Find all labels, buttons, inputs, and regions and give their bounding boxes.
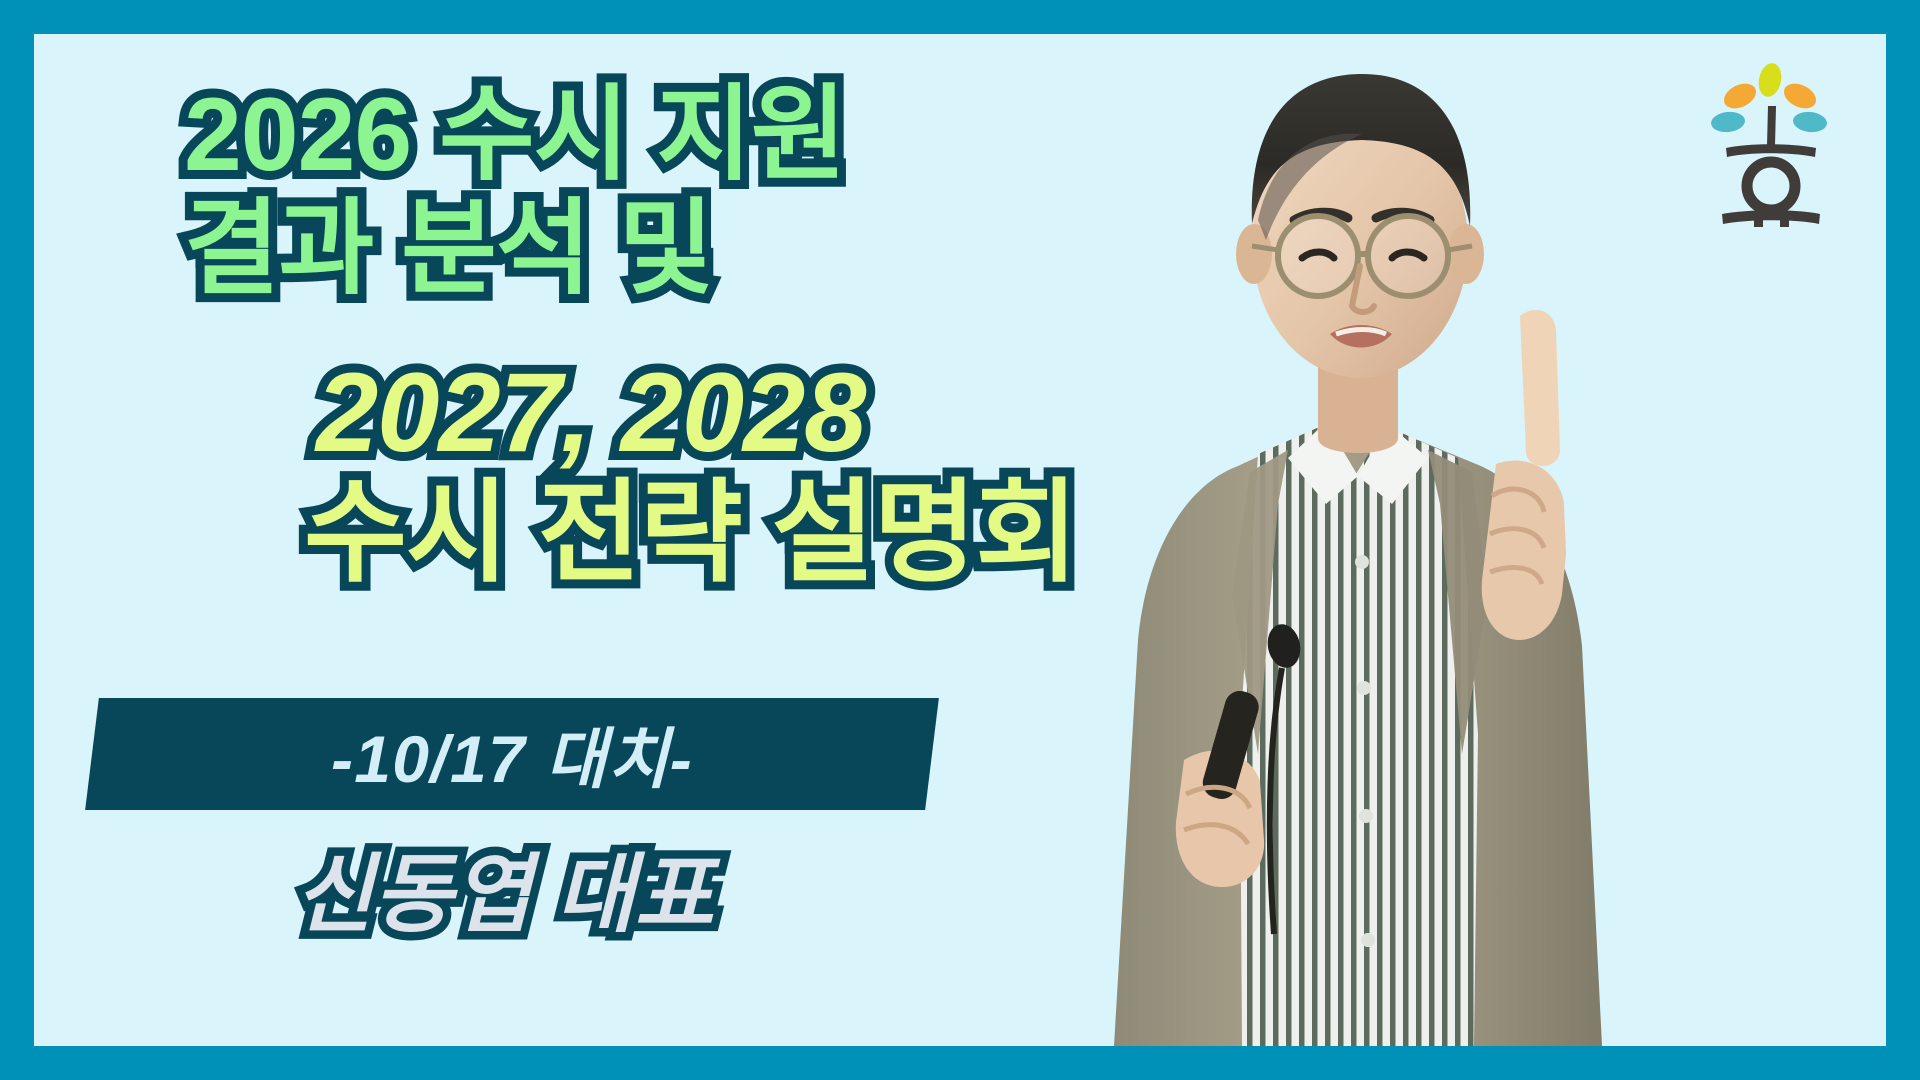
nongyu-logo (1704, 62, 1834, 227)
headline-group-secondary: 2027, 2028 수시 전략 설명회 (316, 356, 1077, 590)
headline-group-primary: 2026 수시 지원 결과 분석 및 (184, 82, 845, 302)
thumbnail-canvas: 2026 수시 지원 결과 분석 및 2027, 2028 수시 전략 설명회 … (34, 34, 1886, 1046)
speaker-name: 신동엽 대표 (34, 824, 974, 949)
headline-line-4: 수시 전략 설명회 (304, 476, 1077, 590)
headline-line-1: 2026 수시 지원 (184, 82, 845, 188)
headline-line-2: 결과 분석 및 (184, 196, 845, 302)
date-ribbon-text: -10/17 대치- (92, 698, 932, 810)
presenter-photo (1026, 34, 1686, 1046)
thumbnail-frame: 2026 수시 지원 결과 분석 및 2027, 2028 수시 전략 설명회 … (0, 0, 1920, 1080)
headline-line-3: 2027, 2028 (316, 356, 1077, 470)
